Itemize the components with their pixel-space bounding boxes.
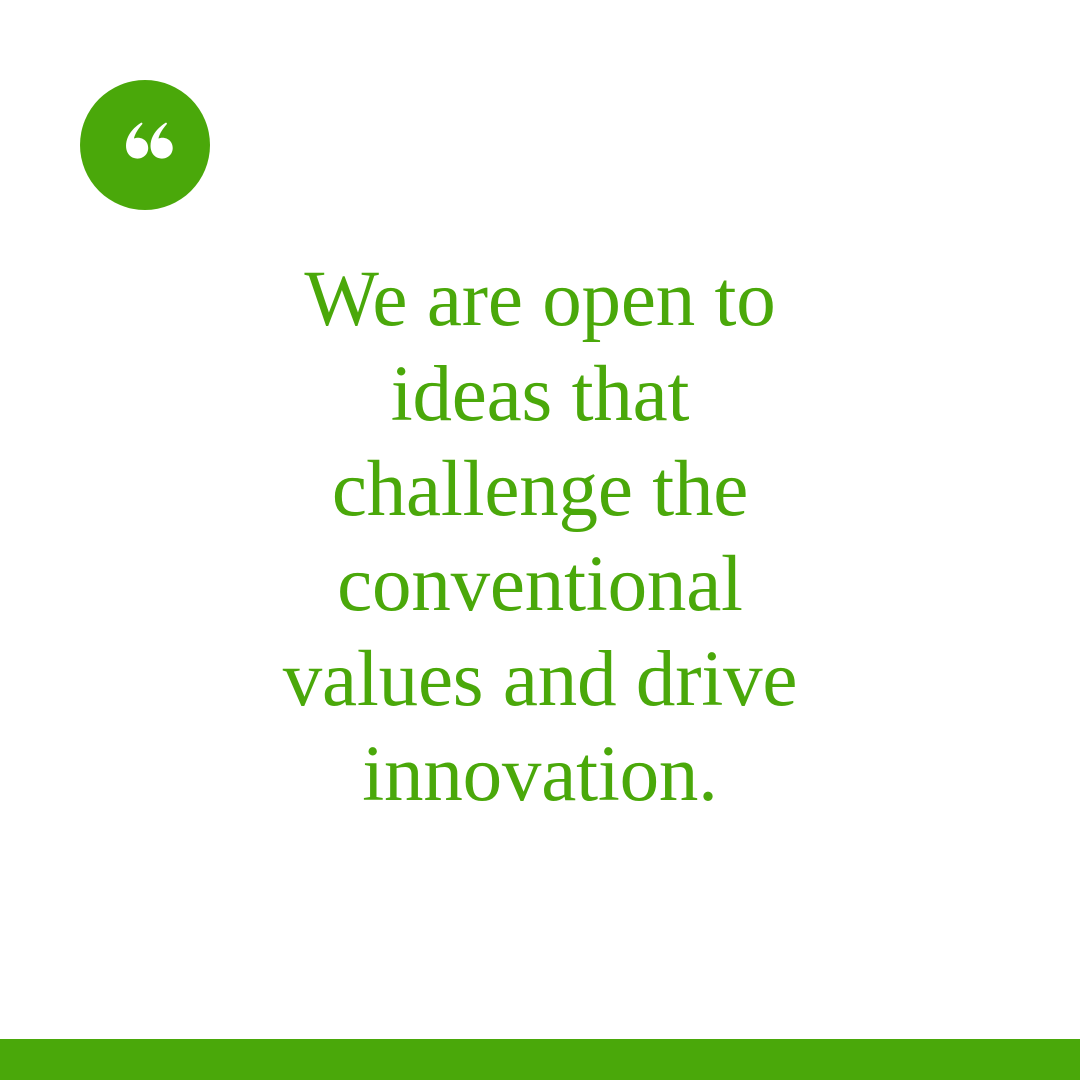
quote-badge <box>80 80 210 210</box>
quote-card: We are open to ideas that challenge the … <box>0 0 1080 1080</box>
quote-text-block: We are open to ideas that challenge the … <box>160 252 920 822</box>
quotation-mark-icon <box>114 115 176 177</box>
footer-accent-bar <box>0 1039 1080 1080</box>
quote-text: We are open to ideas that challenge the … <box>160 252 920 822</box>
